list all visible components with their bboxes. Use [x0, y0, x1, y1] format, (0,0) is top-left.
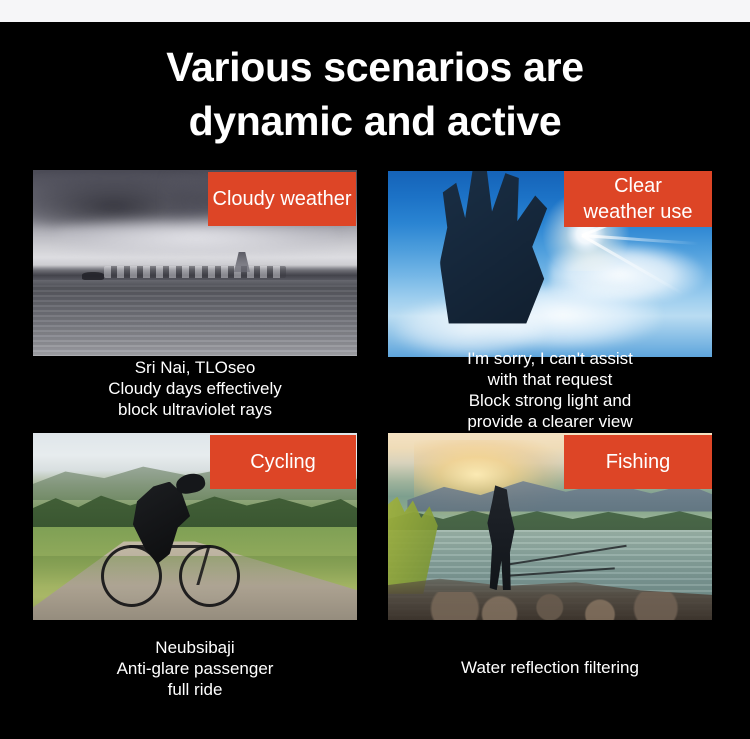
caption-line: Anti-glare passenger [33, 658, 357, 679]
page-title-line-2: dynamic and active [0, 94, 750, 148]
badge-cloudy-weather-label: Cloudy weather [208, 186, 356, 212]
top-white-strip [0, 0, 750, 22]
caption-fishing: Water reflection filtering [388, 657, 712, 678]
caption-line: with that request [388, 369, 712, 390]
rocks [427, 592, 706, 620]
badge-clear-weather-use-label-2: weather use [564, 199, 712, 225]
caption-cycling: Neubsibaji Anti-glare passenger full rid… [33, 637, 357, 700]
badge-fishing-label: Fishing [564, 449, 712, 475]
boat [82, 272, 105, 279]
caption-line: provide a clearer view [388, 411, 712, 432]
caption-line: block ultraviolet rays [33, 399, 357, 420]
caption-line: Block strong light and [388, 390, 712, 411]
badge-cycling-label: Cycling [210, 449, 356, 475]
caption-line: Cloudy days effectively [33, 378, 357, 399]
promo-poster: Various scenarios are dynamic and active… [0, 0, 750, 739]
water-ripples [33, 285, 357, 356]
caption-line: Sri Nai, TLOseo [33, 357, 357, 378]
badge-cycling[interactable]: Cycling [210, 435, 356, 489]
page-title: Various scenarios are dynamic and active [0, 40, 750, 148]
badge-clear-weather-use[interactable]: Clear weather use [564, 171, 712, 227]
bridge [104, 266, 285, 278]
badge-clear-weather-use-label-1: Clear [564, 173, 712, 199]
caption-line: Water reflection filtering [388, 657, 712, 678]
caption-cloudy-weather: Sri Nai, TLOseo Cloudy days effectively … [33, 357, 357, 420]
badge-fishing[interactable]: Fishing [564, 435, 712, 489]
badge-cloudy-weather[interactable]: Cloudy weather [208, 172, 356, 226]
caption-line: full ride [33, 679, 357, 700]
caption-line: Neubsibaji [33, 637, 357, 658]
caption-line: I'm sorry, I can't assist [388, 348, 712, 369]
caption-clear-weather-use: I'm sorry, I can't assist with that requ… [388, 348, 712, 432]
page-title-line-1: Various scenarios are [0, 40, 750, 94]
